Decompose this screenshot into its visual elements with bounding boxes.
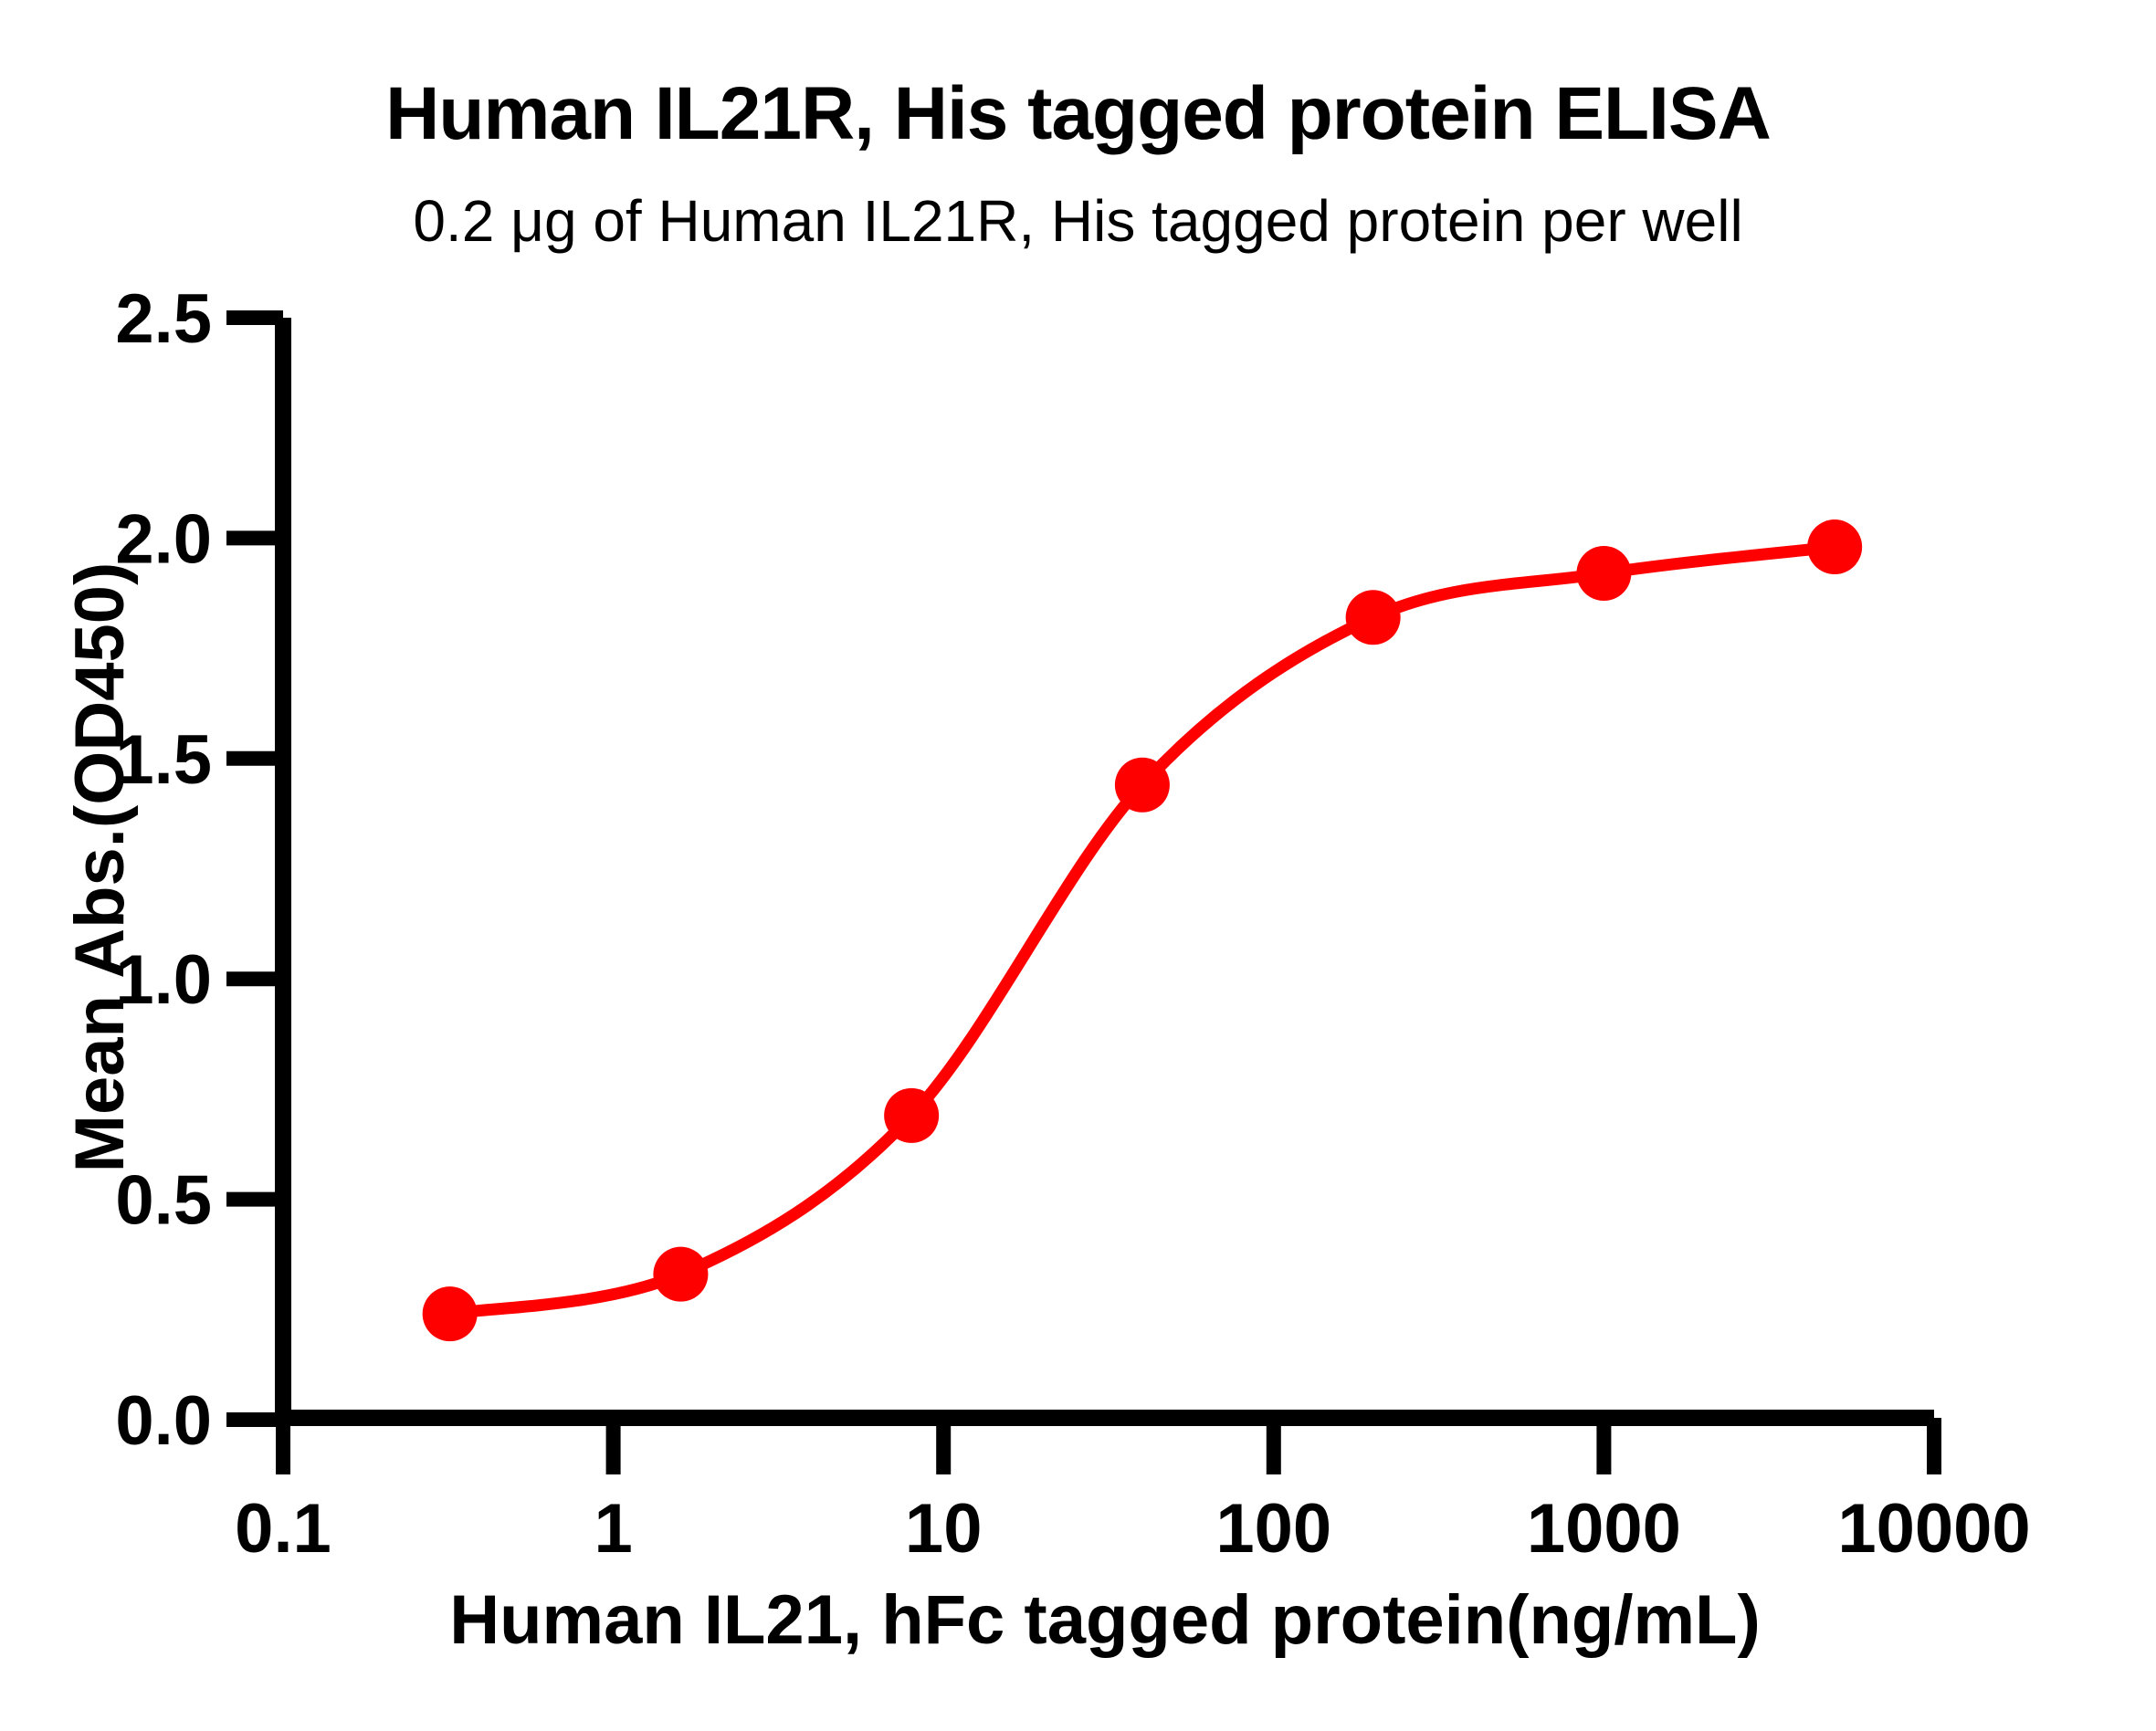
plot-area: 0.00.51.01.52.02.5 0.1110100100010000 Hu… [0, 0, 2156, 1731]
x-axis-tick-label: 10 [905, 1490, 983, 1568]
data-point-marker [1115, 758, 1170, 813]
y-axis-title: Mean Abs.(OD450) [61, 562, 139, 1173]
data-point-marker [653, 1247, 708, 1302]
x-axis-tick-label: 1000 [1527, 1490, 1681, 1568]
x-axis-ticks [283, 1418, 1934, 1474]
data-point-marker [423, 1286, 478, 1341]
data-point-markers [423, 519, 1862, 1341]
x-axis-tick-label: 0.1 [235, 1490, 331, 1568]
data-point-marker [1346, 590, 1401, 645]
y-axis-tick-label: 2.5 [115, 280, 212, 358]
x-axis-tick-labels: 0.1110100100010000 [235, 1490, 2031, 1568]
axes-group [275, 318, 1934, 1422]
elisa-chart-figure: Human IL21R, His tagged protein ELISA 0.… [0, 0, 2156, 1731]
y-axis-tick-label: 0.5 [115, 1162, 212, 1240]
x-axis-tick-label: 1 [594, 1490, 632, 1568]
fit-curve [450, 547, 1835, 1314]
x-axis-tick-label: 100 [1215, 1490, 1331, 1568]
data-point-marker [1807, 519, 1862, 574]
x-axis-tick-label: 10000 [1837, 1490, 2030, 1568]
x-axis-title: Human IL21, hFc tagged protein(ng/mL) [449, 1581, 1761, 1659]
data-point-marker [1576, 546, 1631, 601]
data-point-marker [884, 1088, 939, 1143]
y-axis-tick-label: 0.0 [115, 1382, 212, 1460]
y-axis-ticks [226, 318, 283, 1420]
